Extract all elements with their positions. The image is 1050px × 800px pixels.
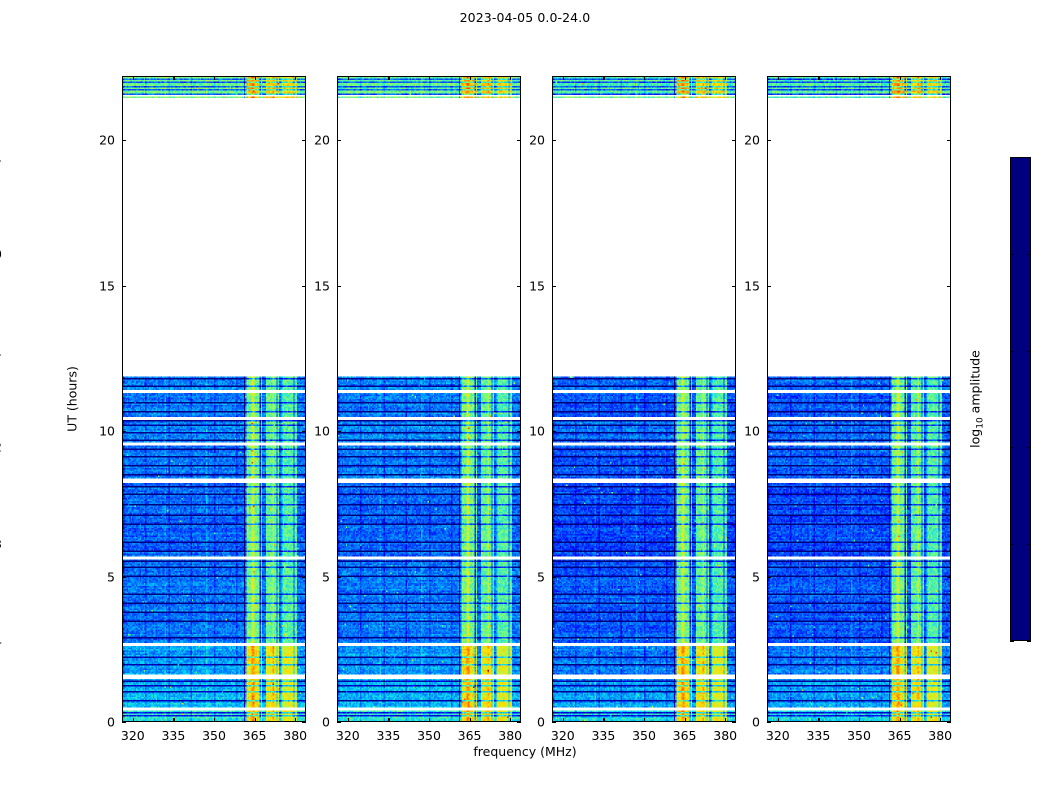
ytick-mark [517, 140, 521, 141]
colorbar-tick-mark [1027, 544, 1031, 545]
xtick-mark [563, 718, 564, 722]
xtick-mark [348, 718, 349, 722]
ytick-label: 15 [529, 278, 545, 293]
xtick-mark [133, 718, 134, 722]
ytick-label: 15 [744, 278, 760, 293]
panel-yy: YY, V3*V8=EA08*EA07 [337, 76, 521, 722]
xtick-mark [429, 76, 430, 80]
ytick-mark [302, 431, 306, 432]
ytick-mark [732, 140, 736, 141]
xtick-mark [940, 76, 941, 80]
xtick-label: 335 [806, 728, 830, 743]
ytick-label: 15 [314, 278, 330, 293]
ytick-mark [517, 431, 521, 432]
xtick-mark [470, 718, 471, 722]
ytick-label: 15 [99, 278, 115, 293]
xtick-mark [214, 76, 215, 80]
xtick-label: 335 [161, 728, 185, 743]
colorbar-tick-mark [1027, 254, 1031, 255]
xtick-mark [778, 718, 779, 722]
xtick-label: 365 [673, 728, 697, 743]
xtick-mark [295, 718, 296, 722]
xtick-mark [900, 76, 901, 80]
ytick-mark [302, 286, 306, 287]
colorbar-tick-mark [1010, 447, 1014, 448]
xtick-label: 380 [283, 728, 307, 743]
panel-yx-waterfall [768, 77, 950, 721]
ytick-label: 5 [107, 569, 115, 584]
xtick-label: 320 [766, 728, 790, 743]
colorbar-tick-label: −3 [0, 537, 2, 552]
xtick-mark [603, 718, 604, 722]
xtick-mark [859, 76, 860, 80]
xtick-mark [255, 76, 256, 80]
ytick-mark [552, 722, 556, 723]
colorbar-tick-mark [1027, 157, 1031, 158]
xtick-mark [725, 76, 726, 80]
ytick-label: 0 [752, 715, 760, 730]
xtick-label: 350 [417, 728, 441, 743]
xtick-mark [725, 718, 726, 722]
ytick-mark [337, 722, 341, 723]
ytick-mark [552, 577, 556, 578]
colorbar-tick-label: −2 [0, 440, 2, 455]
colorbar-tick-mark [1027, 351, 1031, 352]
xtick-mark [940, 718, 941, 722]
colorbar-tick-label: 0 [0, 246, 2, 261]
ytick-label: 20 [99, 133, 115, 148]
xtick-mark [510, 718, 511, 722]
ytick-label: 0 [107, 715, 115, 730]
xtick-label: 335 [591, 728, 615, 743]
xtick-mark [900, 718, 901, 722]
ytick-label: 5 [322, 569, 330, 584]
xtick-mark [133, 76, 134, 80]
ytick-mark [552, 140, 556, 141]
xtick-label: 380 [498, 728, 522, 743]
ytick-mark [122, 722, 126, 723]
xtick-mark [470, 76, 471, 80]
ytick-mark [552, 431, 556, 432]
xtick-mark [388, 76, 389, 80]
ytick-mark [122, 577, 126, 578]
ytick-mark [732, 577, 736, 578]
ytick-mark [947, 140, 951, 141]
ytick-label: 10 [99, 424, 115, 439]
colorbar-tick-mark [1027, 641, 1031, 642]
panel-xx-waterfall [123, 77, 305, 721]
ytick-label: 10 [529, 424, 545, 439]
colorbar-tick-mark [1027, 447, 1031, 448]
ytick-mark [947, 577, 951, 578]
xtick-mark [818, 76, 819, 80]
xtick-mark [429, 718, 430, 722]
panel-yx: YX, V3*V8=EA08*EA07 [767, 76, 951, 722]
xtick-label: 350 [202, 728, 226, 743]
ytick-label: 20 [744, 133, 760, 148]
ytick-mark [517, 577, 521, 578]
panel-xx: XX, V3*V8=EA08*EA07 [122, 76, 306, 722]
ytick-label: 10 [744, 424, 760, 439]
colorbar-tick-mark [1010, 254, 1014, 255]
xtick-mark [388, 718, 389, 722]
ytick-mark [767, 722, 771, 723]
xtick-mark [563, 76, 564, 80]
xtick-mark [685, 76, 686, 80]
ytick-label: 5 [537, 569, 545, 584]
colorbar-tick-label: −4 [0, 634, 2, 649]
ytick-mark [767, 286, 771, 287]
xtick-label: 380 [713, 728, 737, 743]
xtick-mark [214, 718, 215, 722]
ytick-label: 20 [529, 133, 545, 148]
xtick-mark [510, 76, 511, 80]
figure-canvas: 2023-04-05 0.0-24.0 XX, V3*V8=EA08*EA07Y… [0, 0, 1050, 800]
panel-xy: XY, V3*V8=EA08*EA07 [552, 76, 736, 722]
y-axis-label: UT (hours) [65, 366, 80, 432]
ytick-mark [302, 577, 306, 578]
xtick-label: 350 [632, 728, 656, 743]
colorbar-tick-label: 1 [0, 150, 2, 165]
xtick-mark [818, 718, 819, 722]
colorbar-tick-mark [1010, 544, 1014, 545]
ytick-mark [767, 140, 771, 141]
ytick-mark [517, 286, 521, 287]
xtick-mark [173, 718, 174, 722]
ytick-mark [732, 431, 736, 432]
ytick-label: 0 [322, 715, 330, 730]
ytick-mark [337, 140, 341, 141]
colorbar-gradient [1011, 158, 1030, 640]
colorbar-tick-mark [1010, 641, 1014, 642]
ytick-label: 0 [537, 715, 545, 730]
xtick-mark [603, 76, 604, 80]
ytick-mark [767, 431, 771, 432]
colorbar-tick-label: −1 [0, 343, 2, 358]
ytick-mark [767, 577, 771, 578]
xtick-label: 320 [551, 728, 575, 743]
xtick-mark [644, 76, 645, 80]
ytick-mark [122, 431, 126, 432]
ytick-mark [337, 431, 341, 432]
xtick-mark [255, 718, 256, 722]
xtick-label: 365 [458, 728, 482, 743]
xtick-mark [859, 718, 860, 722]
ytick-mark [732, 722, 736, 723]
colorbar-label-subscript: 10 [975, 417, 985, 428]
colorbar-label-main: log [968, 429, 983, 448]
colorbar-label: log10 amplitude [968, 350, 983, 448]
ytick-mark [122, 286, 126, 287]
xtick-mark [295, 76, 296, 80]
ytick-mark [552, 286, 556, 287]
colorbar-tick-mark [1010, 351, 1014, 352]
ytick-mark [517, 722, 521, 723]
ytick-mark [947, 286, 951, 287]
xtick-label: 320 [121, 728, 145, 743]
ytick-mark [947, 431, 951, 432]
xtick-mark [778, 76, 779, 80]
xtick-label: 380 [928, 728, 952, 743]
colorbar [1010, 157, 1031, 641]
xtick-label: 365 [888, 728, 912, 743]
panel-yy-waterfall [338, 77, 520, 721]
xtick-mark [685, 718, 686, 722]
xtick-label: 365 [243, 728, 267, 743]
ytick-mark [122, 140, 126, 141]
x-axis-label: frequency (MHz) [0, 744, 1050, 759]
panel-xy-waterfall [553, 77, 735, 721]
ytick-mark [732, 286, 736, 287]
xtick-mark [644, 718, 645, 722]
figure-suptitle: 2023-04-05 0.0-24.0 [0, 10, 1050, 25]
ytick-mark [302, 722, 306, 723]
ytick-mark [302, 140, 306, 141]
ytick-mark [337, 577, 341, 578]
xtick-label: 335 [376, 728, 400, 743]
colorbar-tick-mark [1010, 157, 1014, 158]
xtick-label: 350 [847, 728, 871, 743]
xtick-mark [348, 76, 349, 80]
colorbar-label-tail: amplitude [968, 350, 983, 417]
ytick-mark [337, 286, 341, 287]
ytick-mark [947, 722, 951, 723]
xtick-label: 320 [336, 728, 360, 743]
ytick-label: 5 [752, 569, 760, 584]
ytick-label: 10 [314, 424, 330, 439]
xtick-mark [173, 76, 174, 80]
ytick-label: 20 [314, 133, 330, 148]
